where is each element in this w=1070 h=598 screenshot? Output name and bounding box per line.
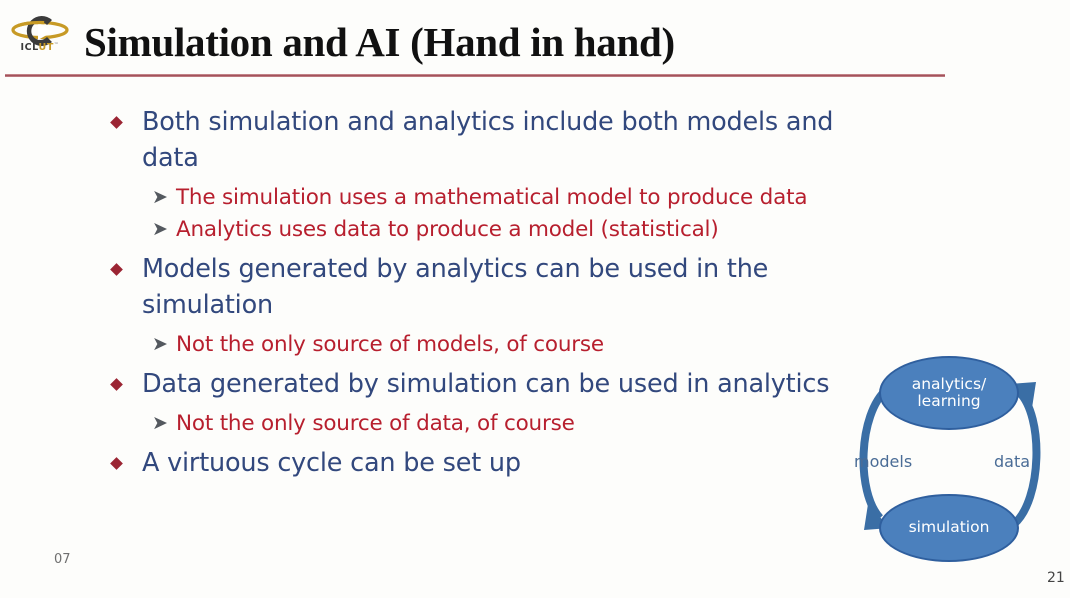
edge-label-data: data	[994, 452, 1030, 471]
icl-ut-logo-icon	[8, 6, 72, 64]
bullet-level2-item: ➤ Not the only source of models, of cour…	[108, 329, 878, 360]
arrowhead-bullet-icon: ➤	[152, 414, 168, 433]
slide-canvas: ICLUT™ Simulation and AI (Hand in hand) …	[0, 0, 1070, 598]
diamond-bullet-icon	[110, 116, 123, 129]
arrowhead-bullet-icon: ➤	[152, 188, 168, 207]
bullet-text: Models generated by analytics can be use…	[142, 254, 768, 320]
bullet-level2-item: ➤ The simulation uses a mathematical mod…	[108, 182, 878, 213]
bullet-level1-item: Data generated by simulation can be used…	[108, 366, 878, 402]
node-label: analytics/ learning	[912, 376, 987, 411]
logo-secondary-text: UT	[39, 42, 54, 53]
slide-number: 21	[1047, 570, 1065, 586]
bullet-level1-item: Models generated by analytics can be use…	[108, 251, 878, 323]
bullet-text: Analytics uses data to produce a model (…	[176, 217, 719, 242]
page-marker: 07	[54, 552, 71, 567]
node-analytics-learning: analytics/ learning	[879, 356, 1019, 430]
arrowhead-bullet-icon: ➤	[152, 335, 168, 354]
node-label: simulation	[909, 519, 990, 536]
bullet-level2-item: ➤ Analytics uses data to produce a model…	[108, 214, 878, 245]
title-divider-rule	[5, 74, 945, 77]
arrowhead-bullet-icon: ➤	[152, 220, 168, 239]
edge-label-models: models	[854, 452, 912, 471]
bullet-list: Both simulation and analytics include bo…	[108, 104, 878, 483]
bullet-level1-item: A virtuous cycle can be set up	[108, 445, 878, 481]
logo-primary-text: ICL	[20, 42, 38, 53]
bullet-text: Not the only source of data, of course	[176, 411, 575, 436]
bullet-level1-item: Both simulation and analytics include bo…	[108, 104, 878, 176]
bullet-text: The simulation uses a mathematical model…	[176, 185, 807, 210]
node-label-line2: learning	[917, 392, 980, 410]
diamond-bullet-icon	[110, 457, 123, 470]
slide-title: Simulation and AI (Hand in hand)	[84, 18, 675, 66]
diamond-bullet-icon	[110, 378, 123, 391]
node-simulation: simulation	[879, 494, 1019, 562]
virtuous-cycle-diagram: analytics/ learning simulation models da…	[852, 352, 1062, 564]
diamond-bullet-icon	[110, 263, 123, 276]
bullet-text: Not the only source of models, of course	[176, 332, 604, 357]
bullet-text: Both simulation and analytics include bo…	[142, 107, 833, 173]
bullet-text: Data generated by simulation can be used…	[142, 369, 829, 399]
logo-trademark: ™	[54, 42, 60, 48]
bullet-level2-item: ➤ Not the only source of data, of course	[108, 408, 878, 439]
node-label-line1: analytics/	[912, 375, 987, 393]
logo-wordmark: ICLUT™	[8, 42, 72, 53]
bullet-text: A virtuous cycle can be set up	[142, 448, 521, 478]
